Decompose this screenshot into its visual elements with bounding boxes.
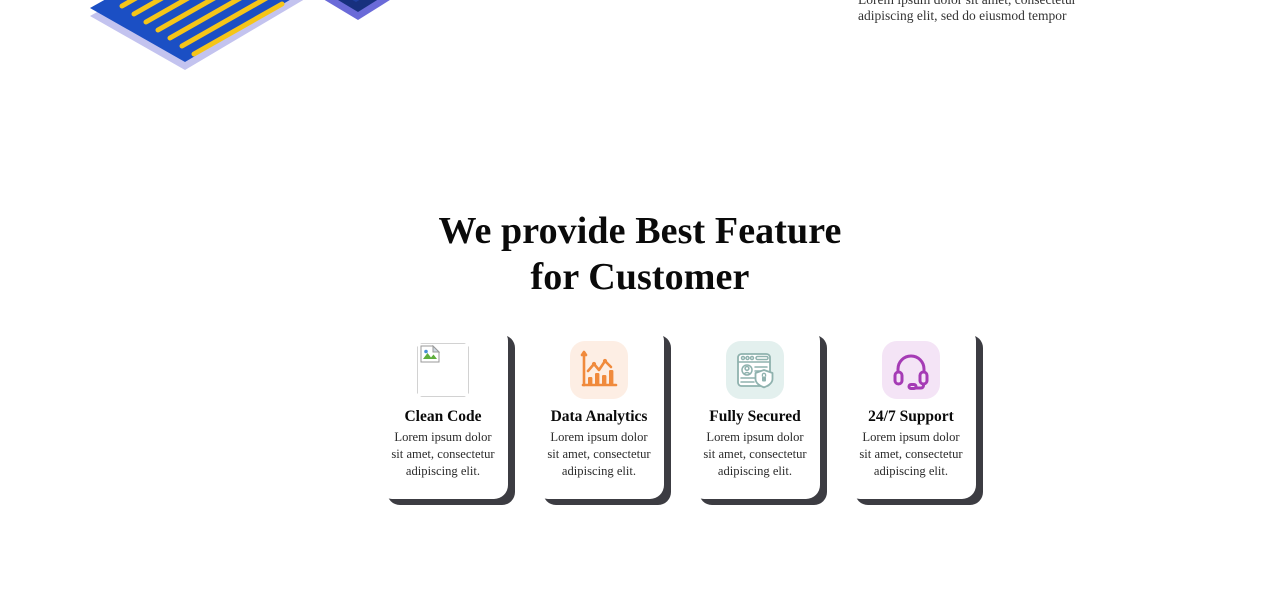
hero-paragraph-line-2: adipiscing elit, sed do eiusmod tempor: [858, 8, 1128, 24]
feature-card-support[interactable]: 24/7 Support Lorem ipsum dolor sit amet,…: [846, 327, 976, 499]
section-heading-line-2: for Customer: [0, 254, 1280, 300]
illustration-phone: [288, 0, 460, 20]
id-card-shield-icon: [726, 341, 784, 399]
feature-card-body: Lorem ipsum dolor sit amet, consectetur …: [856, 429, 966, 480]
bar-line-chart-icon: [570, 341, 628, 399]
feature-card-body: Lorem ipsum dolor sit amet, consectetur …: [544, 429, 654, 480]
feature-card-data-analytics[interactable]: Data Analytics Lorem ipsum dolor sit ame…: [534, 327, 664, 499]
feature-cards-row: Clean Code Lorem ipsum dolor sit amet, c…: [378, 327, 998, 512]
feature-card-clean-code[interactable]: Clean Code Lorem ipsum dolor sit amet, c…: [378, 327, 508, 499]
headset-support-icon: [882, 341, 940, 399]
feature-card-title: Fully Secured: [700, 408, 810, 426]
feature-card-fully-secured[interactable]: Fully Secured Lorem ipsum dolor sit amet…: [690, 327, 820, 499]
illustration-document: [90, 0, 310, 70]
feature-card-body: Lorem ipsum dolor sit amet, consectetur …: [388, 429, 498, 480]
feature-card-title: Clean Code: [388, 408, 498, 426]
feature-card-title: 24/7 Support: [856, 408, 966, 426]
section-heading-line-1: We provide Best Feature: [0, 208, 1280, 254]
hero-strip: Lorem ipsum dolor sit amet, consectetur …: [0, 0, 1280, 90]
feature-card-body: Lorem ipsum dolor sit amet, consectetur …: [700, 429, 810, 480]
section-heading: We provide Best Feature for Customer: [0, 208, 1280, 300]
broken-image-placeholder-icon: [414, 341, 472, 399]
hero-paragraph-line-1: Lorem ipsum dolor sit amet, consectetur: [858, 0, 1128, 8]
feature-card-title: Data Analytics: [544, 408, 654, 426]
hero-paragraph: Lorem ipsum dolor sit amet, consectetur …: [858, 0, 1128, 23]
isometric-devices-illustration: [60, 0, 560, 88]
